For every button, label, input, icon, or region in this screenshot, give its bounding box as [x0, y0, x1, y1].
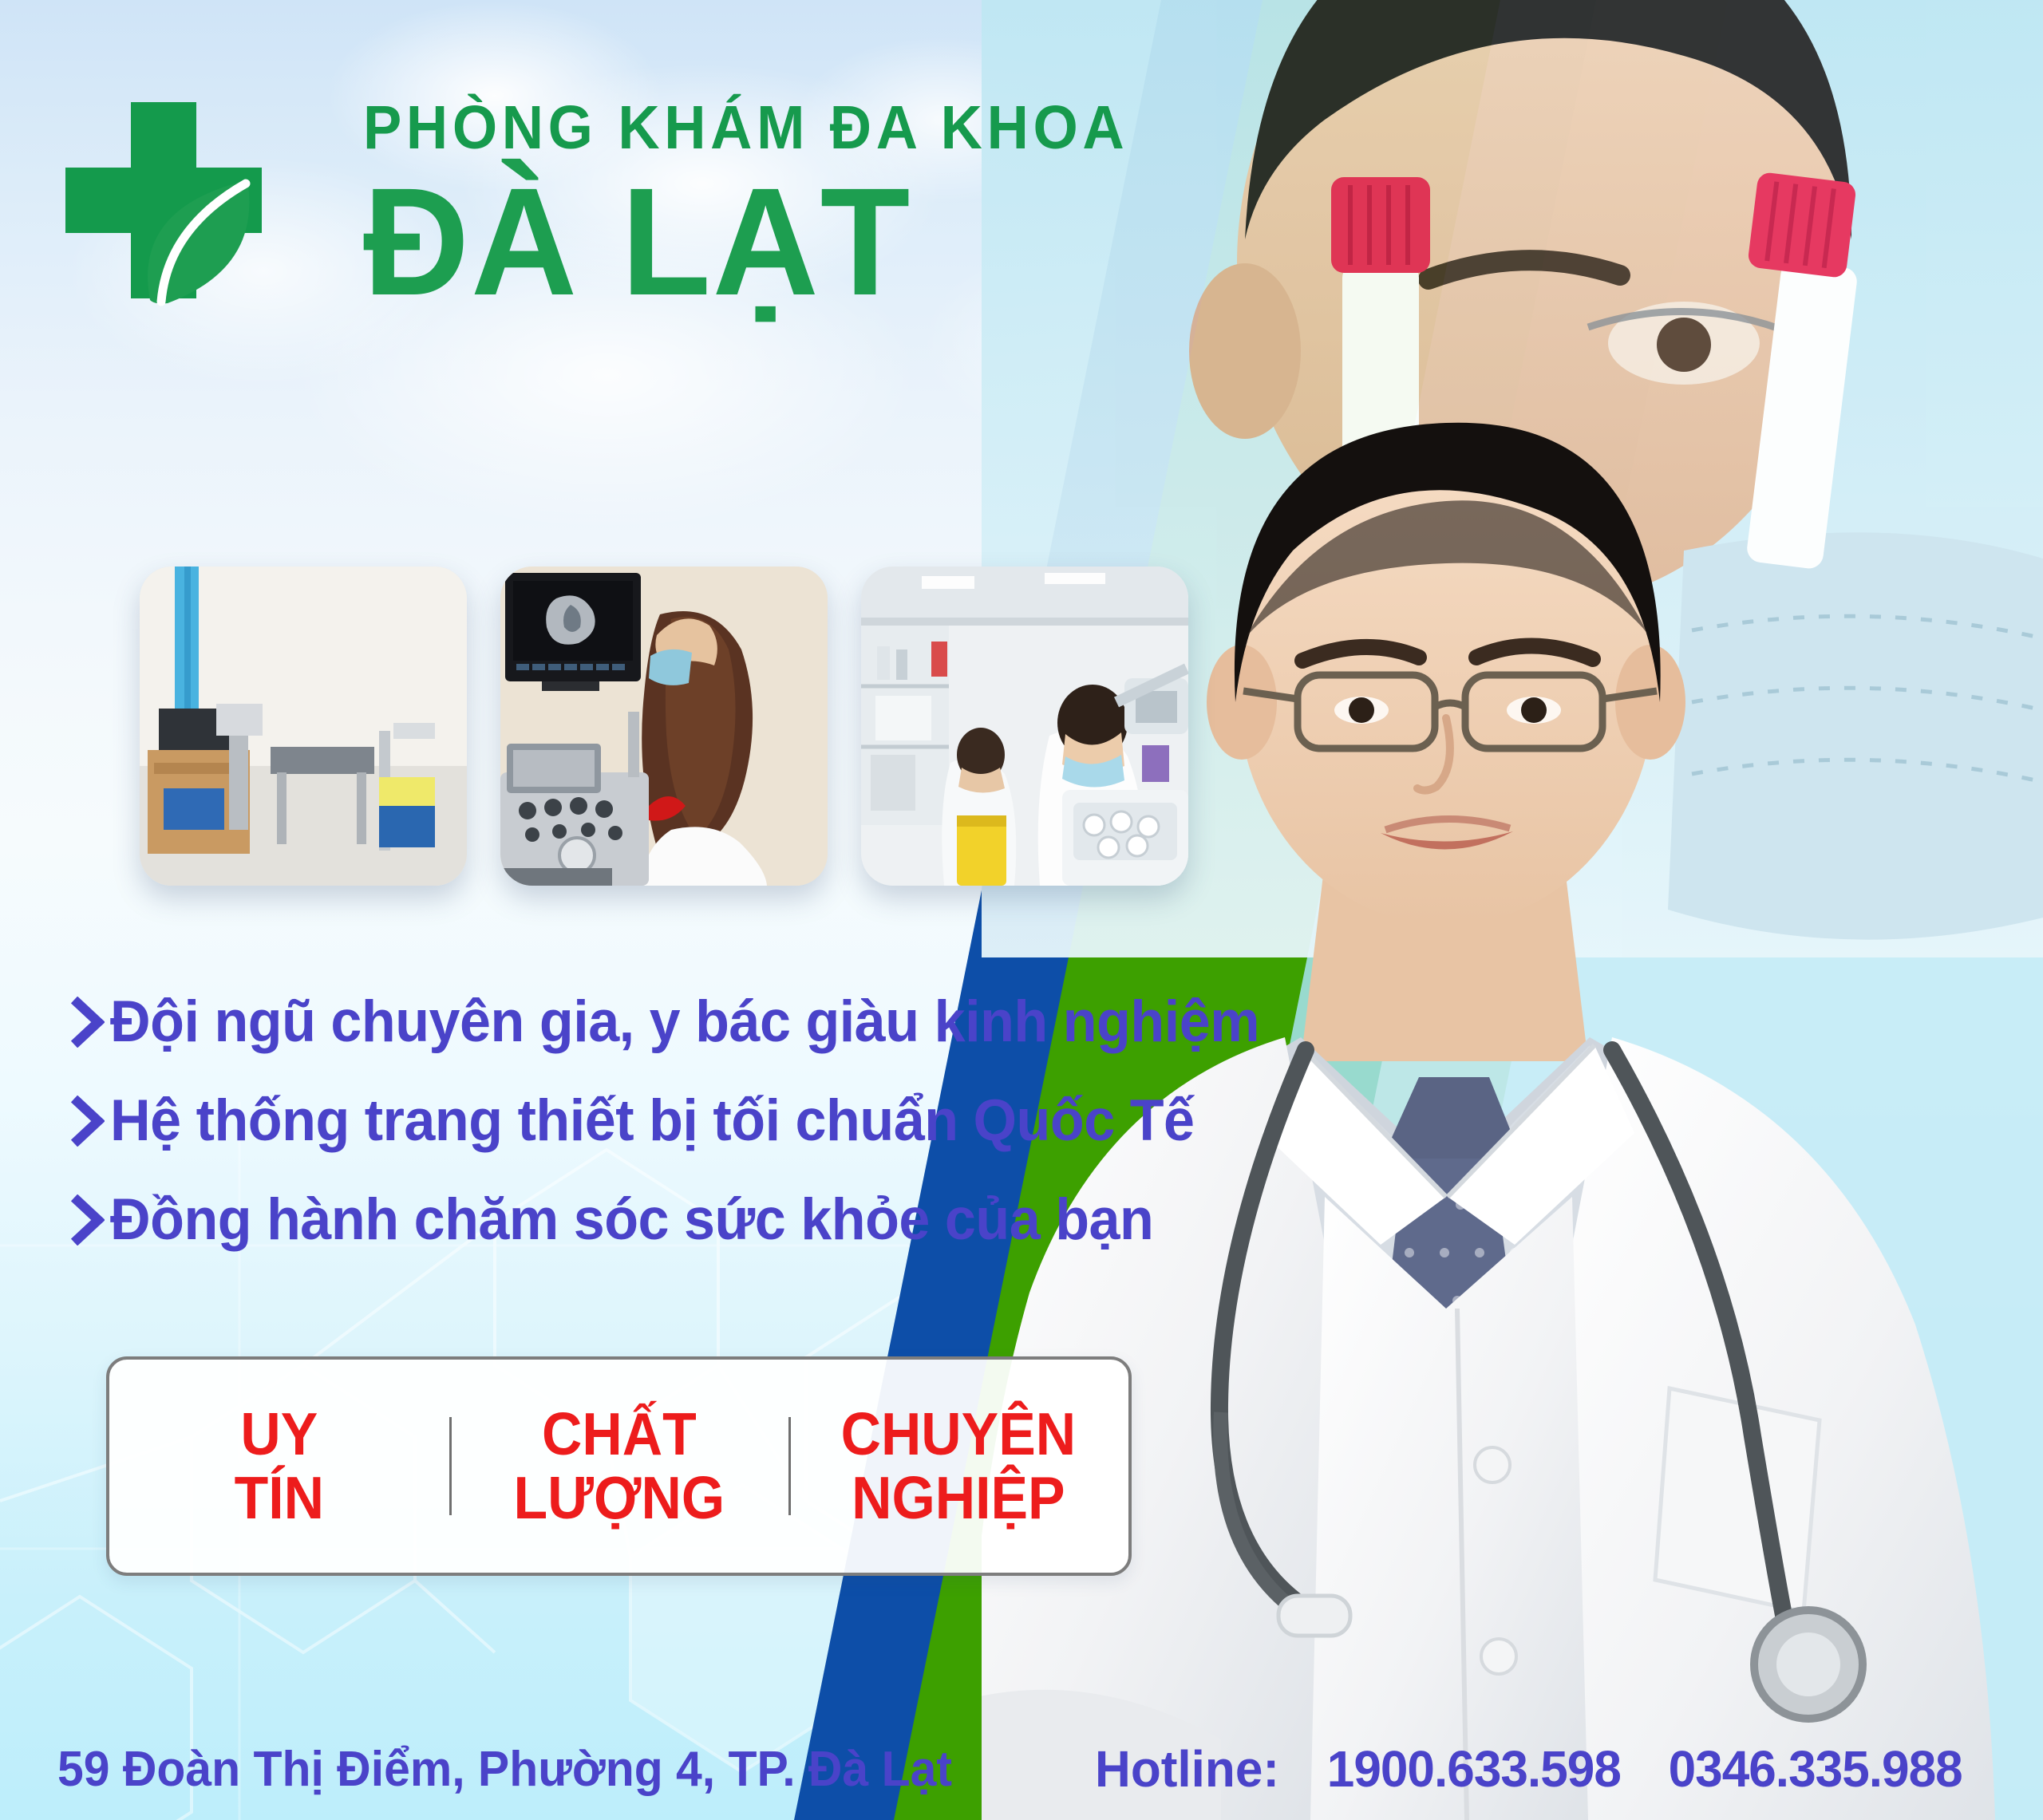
list-item: Hệ thống trang thiết bị tối chuẩn Quốc T…	[64, 1084, 1436, 1158]
chevron-right-icon	[64, 997, 110, 1048]
photo-laboratory	[861, 567, 1188, 886]
brand-wordmark: ĐÀ LẠT	[363, 167, 1145, 317]
value-line-2: TÍN	[127, 1467, 431, 1530]
value-item-uy-tin: UY TÍN	[109, 1403, 449, 1530]
hotline-number-1[interactable]: 1900.633.598	[1327, 1740, 1621, 1798]
value-line-2: NGHIỆP	[807, 1467, 1111, 1530]
chevron-right-icon	[64, 1096, 110, 1147]
hotline-label: Hotline:	[1095, 1740, 1279, 1798]
clinic-address: 59 Đoàn Thị Điểm, Phường 4, TP. Đà Lạt	[57, 1741, 952, 1798]
value-item-chat-luong: CHẤT LƯỢNG	[449, 1403, 789, 1530]
chevron-right-icon	[64, 1194, 110, 1246]
list-item: Đội ngũ chuyên gia, y bác giàu kinh nghi…	[64, 985, 1436, 1059]
value-line-1: CHUYÊN	[807, 1403, 1111, 1467]
list-item: Đồng hành chăm sóc sức khỏe của bạn	[64, 1183, 1436, 1257]
values-box: UY TÍN CHẤT LƯỢNG CHUYÊN NGHIỆP	[106, 1356, 1132, 1576]
value-line-1: CHẤT	[467, 1403, 771, 1467]
hotline-number-2[interactable]: 0346.335.988	[1669, 1740, 1962, 1798]
brand-text: PHÒNG KHÁM ĐA KHOA ĐÀ LẠT	[363, 97, 1178, 317]
feature-list: Đội ngũ chuyên gia, y bác giàu kinh nghi…	[64, 985, 1436, 1282]
photo-ultrasound	[500, 567, 828, 886]
photo-exam-room	[140, 567, 467, 886]
photo-strip	[140, 567, 1188, 886]
feature-text: Đồng hành chăm sóc sức khỏe của bạn	[110, 1190, 1153, 1250]
feature-text: Hệ thống trang thiết bị tối chuẩn Quốc T…	[110, 1091, 1195, 1151]
value-item-chuyen-nghiep: CHUYÊN NGHIỆP	[788, 1403, 1128, 1530]
value-line-2: LƯỢNG	[467, 1467, 771, 1530]
green-cross-leaf-logo-icon	[48, 88, 279, 319]
value-line-1: UY	[127, 1403, 431, 1467]
feature-text: Đội ngũ chuyên gia, y bác giàu kinh nghi…	[110, 992, 1259, 1052]
brand-kicker: PHÒNG KHÁM ĐA KHOA	[363, 97, 1128, 159]
hotline-block: Hotline: 1900.633.598 0346.335.988	[1095, 1739, 1962, 1798]
clinic-banner: PHÒNG KHÁM ĐA KHOA ĐÀ LẠT	[0, 0, 2043, 1820]
brand-lockup: PHÒNG KHÁM ĐA KHOA ĐÀ LẠT	[48, 88, 1181, 327]
